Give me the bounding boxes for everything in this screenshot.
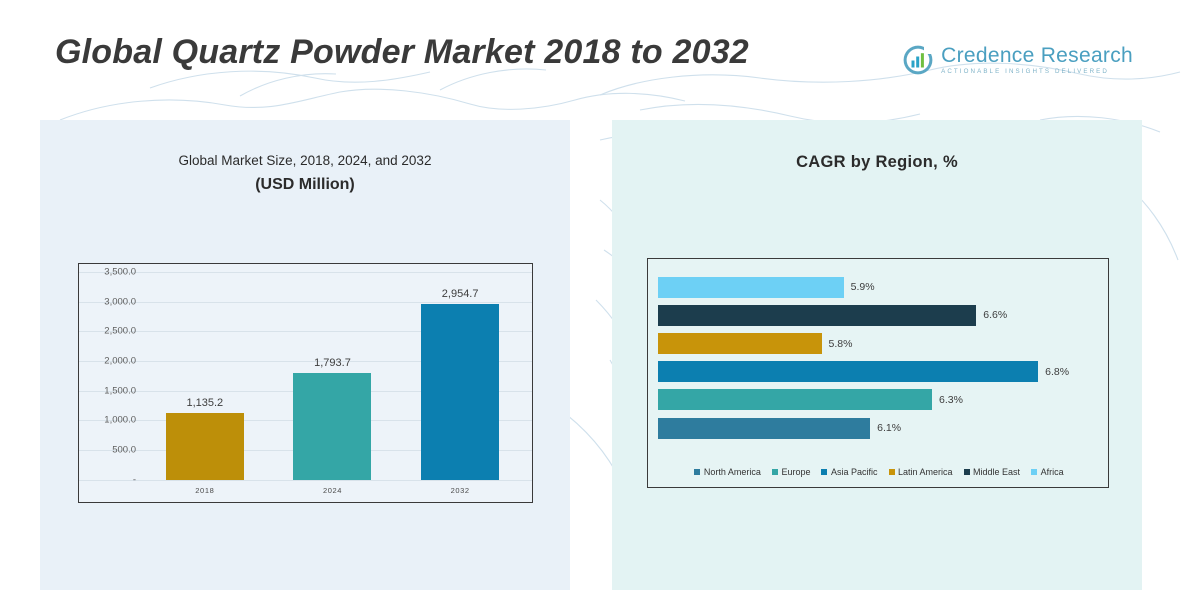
left-chart-title-line1: Global Market Size, 2018, 2024, and 2032 [40,153,570,168]
y-axis-tick-label: 2,000.0 [104,355,136,366]
column-bar-group: 2,954.7 [421,272,499,480]
bar-value-label: 6.1% [877,422,901,434]
legend-swatch-icon [964,469,970,475]
bar-value-label: 5.9% [851,281,875,293]
horizontal-bar [658,277,844,298]
column-chart: -500.01,000.01,500.02,000.02,500.03,000.… [78,263,533,503]
y-axis-tick-label: 3,000.0 [104,296,136,307]
legend-swatch-icon [694,469,700,475]
brand-logo: Credence Research Actionable Insights De… [902,44,1133,76]
page-title: Global Quartz Powder Market 2018 to 2032 [55,33,749,72]
column-bar [166,413,244,480]
legend-swatch-icon [821,469,827,475]
x-axis-tick-label: 2032 [421,486,499,495]
legend-item: Africa [1031,467,1064,477]
legend-label: Latin America [898,467,953,477]
legend-label: Africa [1041,467,1064,477]
y-axis-tick-label: 2,500.0 [104,326,136,337]
horizontal-bar [658,418,870,439]
column-bars: 1,135.21,793.72,954.7 [141,272,524,480]
bar-value-label: 1,793.7 [314,357,351,369]
column-bar [293,373,371,480]
x-axis-tick-label: 2024 [293,486,371,495]
legend-swatch-icon [889,469,895,475]
legend-label: Asia Pacific [831,467,878,477]
infographic-page: Global Quartz Powder Market 2018 to 2032… [0,0,1195,611]
legend-label: Europe [781,467,810,477]
legend-label: Middle East [973,467,1020,477]
left-chart-title-line2: (USD Million) [40,176,570,194]
left-chart-panel: Global Market Size, 2018, 2024, and 2032… [40,120,570,590]
legend-item: Asia Pacific [821,467,877,477]
brand-tagline: Actionable Insights Delivered [941,69,1133,75]
legend-item: Latin America [889,467,953,477]
bar-value-label: 6.8% [1045,366,1069,378]
page-header: Global Quartz Powder Market 2018 to 2032… [0,0,1195,105]
y-axis-tick-label: - [133,474,136,485]
bar-row: 6.1% [658,414,1100,442]
x-axis-labels: 201820242032 [141,482,524,498]
bar-value-label: 5.8% [829,338,853,350]
cagr-bar-chart: 5.9%6.6%5.8%6.8%6.3%6.1% North AmericaEu… [647,258,1109,488]
y-axis-tick-label: 1,000.0 [104,415,136,426]
right-chart-panel: CAGR by Region, % 5.9%6.6%5.8%6.8%6.3%6.… [612,120,1142,590]
horizontal-bar [658,305,976,326]
y-axis: -500.01,000.01,500.02,000.02,500.03,000.… [74,264,136,502]
legend-item: North America [694,467,761,477]
y-axis-tick-label: 1,500.0 [104,385,136,396]
chart-legend: North AmericaEuropeAsia PacificLatin Ame… [656,467,1102,477]
horizontal-bars: 5.9%6.6%5.8%6.8%6.3%6.1% [658,273,1100,443]
legend-item: Europe [772,467,811,477]
bar-value-label: 6.3% [939,394,963,406]
bar-chart-circle-icon [902,44,934,76]
bar-row: 6.8% [658,358,1100,386]
legend-item: Middle East [964,467,1021,477]
y-axis-tick-label: 500.0 [112,444,136,455]
column-bar-group: 1,135.2 [166,272,244,480]
right-chart-title: CAGR by Region, % [612,153,1142,172]
legend-swatch-icon [1031,469,1037,475]
bar-row: 6.6% [658,301,1100,329]
column-plot-area: 1,135.21,793.72,954.7 [141,272,524,480]
bar-value-label: 2,954.7 [442,288,479,300]
bar-row: 5.8% [658,329,1100,357]
y-axis-tick-label: 3,500.0 [104,267,136,278]
brand-logo-text: Credence Research Actionable Insights De… [941,45,1133,75]
legend-swatch-icon [772,469,778,475]
bar-row: 6.3% [658,386,1100,414]
horizontal-bar [658,389,932,410]
bar-value-label: 6.6% [983,309,1007,321]
brand-name: Credence Research [941,45,1133,66]
column-bar [421,304,499,480]
horizontal-bar [658,361,1038,382]
bar-row: 5.9% [658,273,1100,301]
legend-label: North America [704,467,761,477]
bar-value-label: 1,135.2 [186,397,223,409]
x-axis-tick-label: 2018 [166,486,244,495]
column-bar-group: 1,793.7 [293,272,371,480]
horizontal-bar [658,333,822,354]
